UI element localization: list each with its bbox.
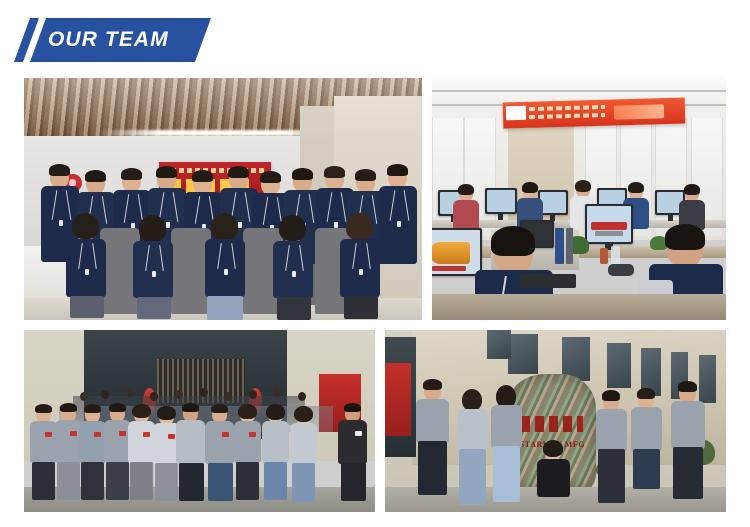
photo-bottom-left[interactable] [24,330,375,512]
desk-cup [611,246,620,264]
page-title: OUR TEAM [48,18,169,62]
desk-surface-foreground [432,294,726,320]
photo-top-right[interactable] [432,78,726,320]
building-window [508,334,539,374]
banner-text-line-top [163,168,266,173]
binder [566,228,573,264]
crowd-head [200,388,208,397]
photo-top-right-scene [432,78,726,320]
building-window [607,343,631,389]
desk-bottle [600,248,608,264]
binder [555,228,564,264]
photo-bottom-left-scene [24,330,375,512]
photo-top-left-scene [24,78,422,320]
keyboard [520,274,576,288]
team-photo-gallery: STARWAY MFG [24,78,726,512]
section-header-banner: OUR TEAM [0,18,230,62]
building-window [487,330,511,359]
cad-monitor [432,228,482,276]
company-logo-on-banner [505,106,525,121]
crowd-head [224,392,232,401]
photo-bottom-right-scene: STARWAY MFG [385,330,726,512]
crowd-head [298,392,306,401]
crowd-head [126,388,134,397]
computer-mouse [608,264,634,276]
cad-monitor [585,204,633,244]
building-window [699,355,716,402]
computer-monitor [485,188,517,214]
photo-top-left[interactable] [24,78,422,320]
ceiling-seam [432,90,726,92]
photo-bottom-right[interactable]: STARWAY MFG [385,330,726,512]
crowd-head [80,392,88,401]
crowd-head [249,390,257,399]
crowd-head [175,390,183,399]
stone-engraving-chinese [521,416,582,432]
banner-highlight-text [614,104,664,119]
red-notice-board [385,363,411,436]
